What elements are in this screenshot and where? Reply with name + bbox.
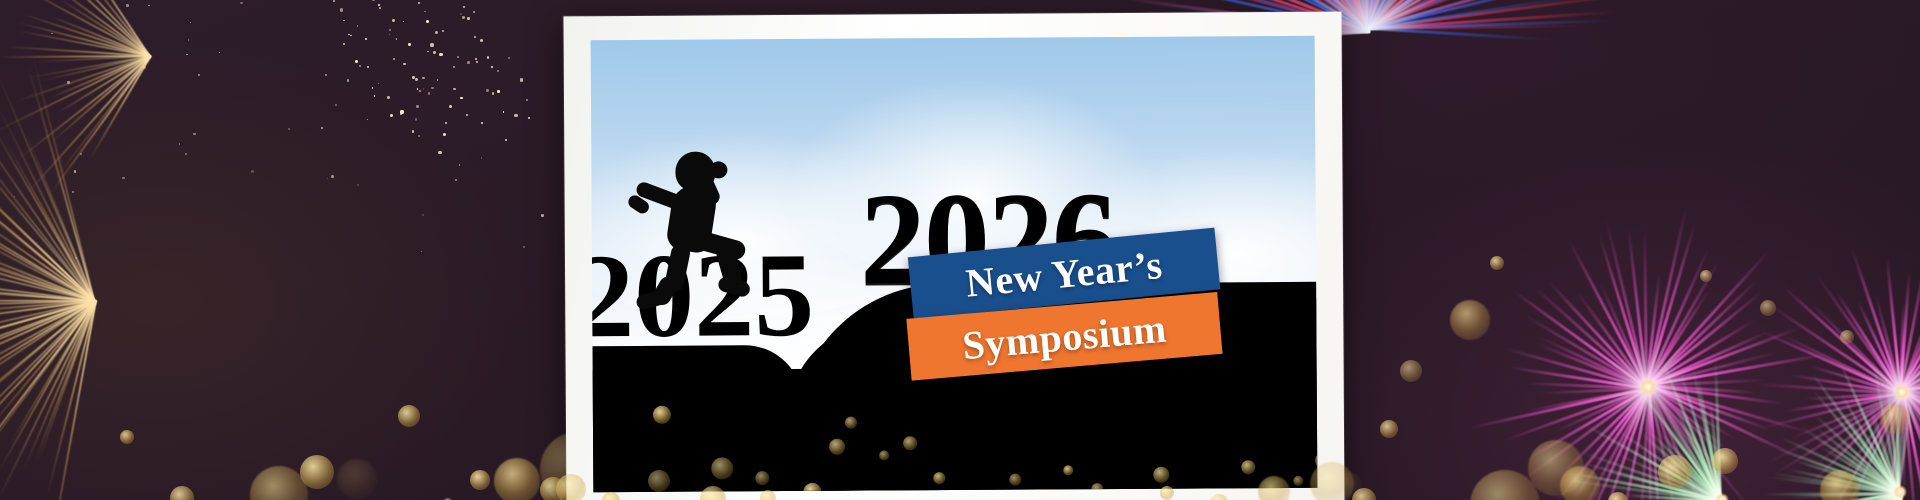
banner-new-years-label: New Year’s (964, 240, 1165, 306)
jumping-person-silhouette (633, 151, 766, 304)
photo-image: 2025 2026 (591, 36, 1318, 492)
banner-symposium-label: Symposium (961, 304, 1169, 368)
jumper-foot-front (717, 275, 752, 298)
jumper-fist (709, 161, 727, 178)
scene-stage: 2025 2026 (0, 0, 1920, 500)
polaroid-frame: 2025 2026 (563, 12, 1344, 500)
